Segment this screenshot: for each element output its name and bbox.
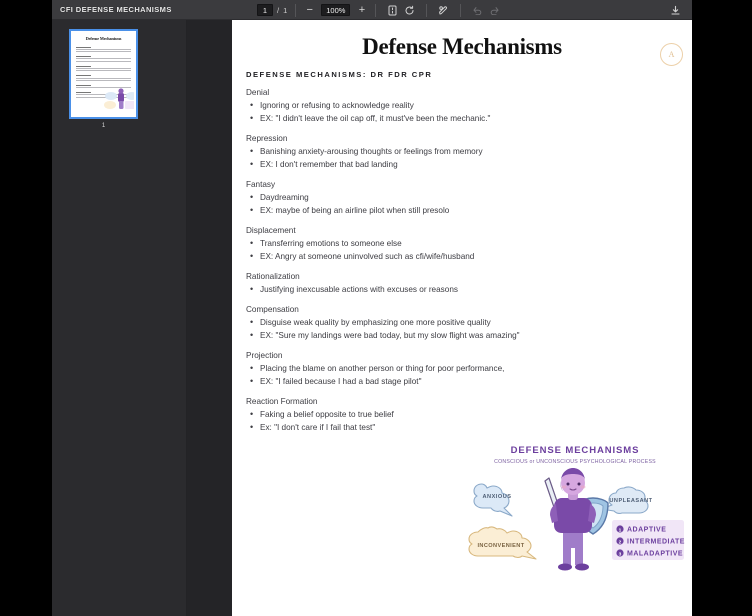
zoom-level-value[interactable]: 100% bbox=[321, 4, 350, 16]
bullet-list: Disguise weak quality by emphasizing one… bbox=[246, 316, 678, 342]
document-content: A Defense Mechanisms DEFENSE MECHANISMS:… bbox=[232, 34, 692, 616]
cloud-inconvenient-label: INCONVENIENT bbox=[477, 543, 524, 549]
download-icon[interactable] bbox=[667, 3, 684, 18]
toolbar-divider-2 bbox=[375, 4, 376, 17]
list-item: Faking a belief opposite to true belief bbox=[246, 408, 678, 421]
cloud-unpleasant: UNPLEASANT bbox=[601, 487, 653, 513]
section-denial: Denial Ignoring or refusing to acknowled… bbox=[246, 86, 678, 125]
page-title: Defense Mechanisms bbox=[246, 34, 678, 60]
undo-icon[interactable] bbox=[469, 3, 486, 18]
toolbar-right-controls bbox=[667, 0, 684, 20]
toolbar-divider-4 bbox=[460, 4, 461, 17]
rotate-icon[interactable] bbox=[401, 3, 418, 18]
list-item: Justifying inexcusable actions with excu… bbox=[246, 283, 678, 296]
list-item: Ignoring or refusing to acknowledge real… bbox=[246, 99, 678, 112]
section-projection: Projection Placing the blame on another … bbox=[246, 349, 678, 388]
bullet-list: Banishing anxiety-arousing thoughts or f… bbox=[246, 145, 678, 171]
page-thumbnail-1[interactable]: Defense Mechanisms bbox=[69, 29, 138, 119]
section-label: Reaction Formation bbox=[246, 395, 678, 408]
list-item: Banishing anxiety-arousing thoughts or f… bbox=[246, 145, 678, 158]
section-displacement: Displacement Transferring emotions to so… bbox=[246, 224, 678, 263]
toolbar-center-controls: 1 / 1 − 100% + bbox=[257, 0, 503, 20]
zoom-out-button[interactable]: − bbox=[304, 5, 315, 15]
legend-box: 1 ADAPTIVE 2 INTERMEDIATE 3 MALADAPTIVE bbox=[612, 520, 685, 560]
thumbnail-preview: Defense Mechanisms bbox=[73, 33, 134, 115]
cloud-anxious-label: ANXIOUS bbox=[483, 494, 512, 500]
section-compensation: Compensation Disguise weak quality by em… bbox=[246, 303, 678, 342]
list-item: Transferring emotions to someone else bbox=[246, 237, 678, 250]
section-heading: DEFENSE MECHANISMS: DR FDR CPR bbox=[246, 70, 678, 79]
watermark-logo-icon: A bbox=[660, 43, 683, 66]
cloud-anxious: ANXIOUS bbox=[474, 484, 512, 516]
section-label: Projection bbox=[246, 349, 678, 362]
section-label: Displacement bbox=[246, 224, 678, 237]
legend-label-intermediate: INTERMEDIATE bbox=[627, 539, 685, 546]
bullet-list: Justifying inexcusable actions with excu… bbox=[246, 283, 678, 296]
thumbnail-page-label: 1 bbox=[102, 123, 105, 129]
list-item: Daydreaming bbox=[246, 191, 678, 204]
legend-label-adaptive: ADAPTIVE bbox=[627, 527, 666, 534]
pdf-toolbar: CFI DEFENSE MECHANISMS 1 / 1 − 100% + bbox=[52, 0, 692, 20]
annotate-icon[interactable] bbox=[435, 3, 452, 18]
bullet-list: Faking a belief opposite to true belief … bbox=[246, 408, 678, 434]
legend-number: 2 bbox=[619, 539, 622, 545]
section-label: Repression bbox=[246, 132, 678, 145]
list-item: Placing the blame on another person or t… bbox=[246, 362, 678, 375]
legend-label-maladaptive: MALADAPTIVE bbox=[627, 551, 683, 558]
section-label: Rationalization bbox=[246, 270, 678, 283]
defense-mechanisms-illustration: DEFENSE MECHANISMS CONSCIOUS or UNCONSCI… bbox=[464, 440, 686, 580]
list-item: EX: "I failed because I had a bad stage … bbox=[246, 375, 678, 388]
legend-number: 1 bbox=[619, 527, 622, 533]
list-item: EX: maybe of being an airline pilot when… bbox=[246, 204, 678, 217]
page-separator: / bbox=[277, 6, 279, 15]
bullet-list: Transferring emotions to someone else EX… bbox=[246, 237, 678, 263]
bullet-list: Placing the blame on another person or t… bbox=[246, 362, 678, 388]
illustration-subtitle: CONSCIOUS or UNCONSCIOUS PSYCHOLOGICAL P… bbox=[494, 459, 656, 465]
section-fantasy: Fantasy Daydreaming EX: maybe of being a… bbox=[246, 178, 678, 217]
character-figure bbox=[550, 468, 596, 571]
bullet-list: Ignoring or refusing to acknowledge real… bbox=[246, 99, 678, 125]
thumbnail-illustration bbox=[103, 86, 134, 111]
list-item: Ex: "I don't care if I fail that test" bbox=[246, 421, 678, 434]
legend-number: 3 bbox=[619, 551, 622, 557]
thumbnail-item[interactable]: Defense Mechanisms bbox=[69, 29, 138, 129]
fit-page-icon[interactable] bbox=[384, 3, 401, 18]
thumbnail-title: Defense Mechanisms bbox=[73, 36, 134, 41]
section-rationalization: Rationalization Justifying inexcusable a… bbox=[246, 270, 678, 296]
cloud-inconvenient: INCONVENIENT bbox=[469, 527, 536, 559]
bullet-list: Daydreaming EX: maybe of being an airlin… bbox=[246, 191, 678, 217]
list-item: EX: Angry at someone uninvolved such as … bbox=[246, 250, 678, 263]
cloud-unpleasant-label: UNPLEASANT bbox=[609, 498, 652, 504]
illustration-title: DEFENSE MECHANISMS bbox=[511, 445, 640, 456]
list-item: EX: "Sure my landings were bad today, bu… bbox=[246, 329, 678, 342]
section-label: Compensation bbox=[246, 303, 678, 316]
section-label: Fantasy bbox=[246, 178, 678, 191]
thumbnail-heading bbox=[76, 43, 131, 45]
list-item: Disguise weak quality by emphasizing one… bbox=[246, 316, 678, 329]
page-total-label: 1 bbox=[283, 6, 287, 15]
zoom-in-button[interactable]: + bbox=[356, 5, 367, 15]
section-label: Denial bbox=[246, 86, 678, 99]
pdf-viewport[interactable]: A Defense Mechanisms DEFENSE MECHANISMS:… bbox=[187, 20, 692, 616]
section-repression: Repression Banishing anxiety-arousing th… bbox=[246, 132, 678, 171]
redo-icon[interactable] bbox=[486, 3, 503, 18]
pdf-page-1: A Defense Mechanisms DEFENSE MECHANISMS:… bbox=[232, 20, 692, 616]
document-title: CFI DEFENSE MECHANISMS bbox=[60, 5, 172, 14]
list-item: EX: "I didn't leave the oil cap off, it … bbox=[246, 112, 678, 125]
list-item: EX: I don't remember that bad landing bbox=[246, 158, 678, 171]
page-navigation: 1 / 1 bbox=[257, 4, 287, 16]
zoom-controls: − 100% + bbox=[304, 4, 367, 16]
toolbar-divider-1 bbox=[295, 4, 296, 17]
app-root: CFI DEFENSE MECHANISMS 1 / 1 − 100% + bbox=[0, 0, 752, 616]
page-number-input[interactable]: 1 bbox=[257, 4, 273, 16]
toolbar-divider-3 bbox=[426, 4, 427, 17]
thumbnail-sidebar[interactable]: Defense Mechanisms bbox=[52, 20, 187, 616]
section-reaction-formation: Reaction Formation Faking a belief oppos… bbox=[246, 395, 678, 434]
